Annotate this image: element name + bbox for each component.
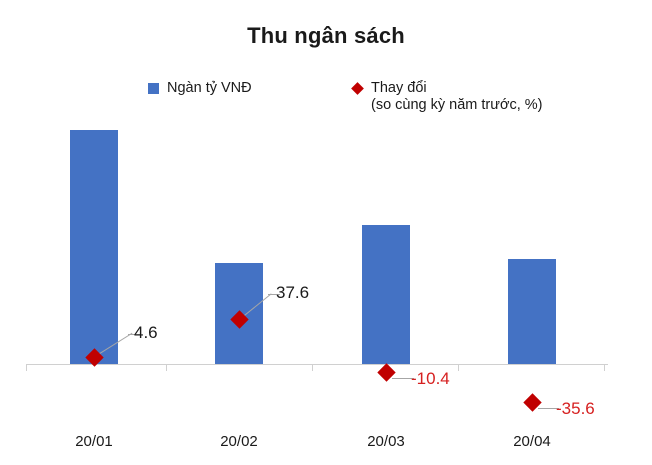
x-axis-tick [166,365,167,371]
x-axis-line [26,364,608,365]
data-label-20-01: 4.6 [134,323,158,343]
x-label-20-04: 20/04 [459,433,605,450]
bar-20-03[interactable] [362,225,410,364]
x-axis-tick [26,365,27,371]
bar-20-01[interactable] [70,130,118,364]
chart-container: Thu ngân sách Ngàn tỷ VNĐ Thay đổi (so c… [0,0,652,465]
x-axis-tick [312,365,313,371]
bar-20-04[interactable] [508,259,556,364]
plot-area: 4.6 37.6 -10.4 -35.6 20/01 20/02 20/03 2… [0,0,652,465]
data-label-20-03: -10.4 [411,369,450,389]
x-label-20-03: 20/03 [313,433,459,450]
data-label-20-04: -35.6 [556,399,595,419]
x-label-20-02: 20/02 [166,433,312,450]
x-axis-tick [604,365,605,371]
x-label-20-01: 20/01 [21,433,167,450]
x-axis-tick [458,365,459,371]
data-label-20-02: 37.6 [276,283,309,303]
